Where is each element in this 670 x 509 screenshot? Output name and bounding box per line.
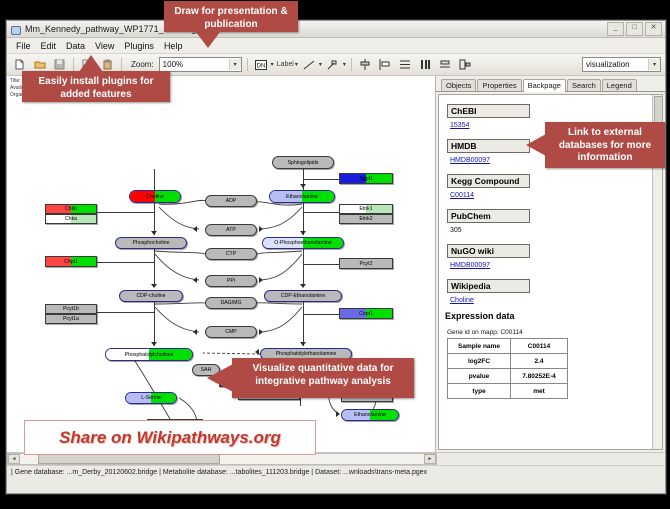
metabolite-node[interactable]: L-Serine (125, 392, 177, 404)
node-label: Pcyt1b (63, 306, 79, 312)
zoom-label: Zoom: (131, 60, 154, 69)
db-entry-wikipedia: Wikipedia Choline (447, 276, 662, 304)
table-row: Sample name C00114 (448, 339, 568, 354)
node-label: Cept1 (359, 311, 373, 317)
chevron-down-icon[interactable]: ▾ (343, 61, 346, 68)
node-label: Pcyt2 (360, 261, 373, 267)
tab-legend[interactable]: Legend (602, 79, 637, 91)
chevron-down-icon[interactable]: ▾ (229, 59, 241, 70)
connector (303, 264, 341, 265)
connector (97, 262, 155, 263)
distribute-icon[interactable] (397, 56, 414, 73)
connector (154, 169, 155, 191)
cell-key: type (448, 384, 511, 399)
status-text: | Gene database: ...m_Derby_20120602.bri… (7, 469, 427, 476)
node-label: L-Serine (141, 395, 161, 401)
callout-arrow-down (196, 32, 220, 48)
db-link-kegg[interactable]: C00114 (450, 192, 662, 199)
metabolite-node[interactable]: Ethanolamine (269, 190, 335, 203)
node-label: DAG/MG (220, 300, 241, 306)
arrow-icon (151, 284, 157, 288)
arrow-icon (336, 411, 340, 417)
menu-help[interactable]: Help (159, 39, 188, 53)
gene-node[interactable]: Pcyt2 (339, 258, 393, 269)
gene-node[interactable]: Chka (45, 214, 97, 224)
connector (97, 312, 155, 313)
metabolite-node[interactable]: PPi (205, 275, 257, 287)
zoom-combo[interactable]: 100% ▾ (159, 57, 242, 72)
metabolite-node[interactable]: ATP (205, 224, 257, 236)
menu-view[interactable]: View (90, 39, 119, 53)
db-header: Wikipedia (447, 279, 530, 293)
cell-value: met (511, 384, 568, 399)
title-bar: Mm_Kennedy_pathway_WP1771_45176.gpml _ □… (7, 21, 665, 38)
cell-key: Sample name (448, 339, 511, 354)
cell-value: 7.80252E-4 (511, 369, 568, 384)
callout-plugins: Easily install plugins for added feature… (22, 71, 170, 102)
node-label: Choline (146, 194, 164, 200)
node-label: PPi (227, 278, 235, 284)
chevron-down-icon[interactable]: ▾ (271, 61, 274, 68)
scroll-right-icon[interactable]: ► (424, 454, 436, 464)
menu-bar: File Edit Data View Plugins Help (7, 38, 665, 54)
expression-table: Sample name C00114 log2FC 2.4 pvalue 7.8… (447, 338, 568, 399)
menu-data[interactable]: Data (61, 39, 90, 53)
node-label: Etnk2 (359, 216, 372, 222)
node-label: ADP (226, 198, 237, 204)
connector (303, 314, 341, 315)
node-label: Chkb (65, 206, 77, 212)
node-label: Ethanolamine (354, 412, 386, 418)
metabolite-node[interactable]: Phosphatidylcholines (105, 348, 193, 361)
gene-node[interactable]: Chpt1 (45, 256, 97, 267)
db-link-nugo[interactable]: HMDB00097 (450, 262, 662, 269)
tab-properties[interactable]: Properties (477, 79, 521, 91)
metabolite-node[interactable]: CTP (205, 248, 257, 260)
arrow-icon (193, 329, 197, 335)
arrow-icon (151, 342, 157, 346)
arrow-icon (193, 277, 197, 283)
cell-value: C00114 (511, 339, 568, 354)
node-label: Phosphocholine (133, 240, 170, 246)
toolbar-separator (73, 58, 74, 71)
metabolite-node[interactable]: CDP-choline (119, 290, 183, 302)
arrow-icon (300, 284, 306, 288)
cell-value: 2.4 (511, 354, 568, 369)
callout-arrow-left (207, 364, 233, 392)
chevron-down-icon[interactable]: ▾ (319, 61, 322, 68)
tab-backpage[interactable]: Backpage (523, 79, 566, 92)
label-tool-text: Label (277, 61, 294, 68)
node-label: Phosphatidylcholines (125, 352, 174, 358)
node-label: Chka (65, 216, 77, 222)
arrow-icon (300, 231, 306, 235)
expression-data-title: Expression data (445, 311, 662, 321)
status-bar: | Gene database: ...m_Derby_20120602.bri… (7, 465, 665, 479)
db-header: HMDB (447, 139, 530, 153)
metabolite-node[interactable]: CDP-Ethanolamine (264, 290, 342, 302)
metabolite-node[interactable]: ADP (205, 195, 257, 207)
align-left-icon[interactable] (377, 56, 394, 73)
connector (154, 302, 155, 346)
node-label: CDP-choline (136, 293, 165, 299)
connector (303, 179, 341, 180)
gene-node[interactable]: Sgpl1 (339, 173, 393, 184)
db-entry-nugo: NuGO wiki HMDB00097 (447, 241, 662, 269)
group-icon[interactable] (457, 56, 474, 73)
receptor-icon[interactable] (325, 56, 342, 73)
gene-node[interactable]: Etnk1 (339, 204, 393, 214)
db-entry-pubchem: PubChem 305 (447, 206, 662, 234)
line-tool[interactable]: ▾ (301, 56, 322, 73)
chevron-down-icon[interactable]: ▾ (295, 61, 298, 68)
node-label: O-Phosphoethanolamine (274, 240, 331, 246)
node-label: Sgpl1 (359, 176, 372, 182)
line-icon[interactable] (301, 56, 318, 73)
close-button[interactable]: ✕ (645, 22, 662, 36)
arrow-icon (259, 329, 263, 335)
connector (154, 249, 155, 287)
gene-node[interactable]: Cept1 (339, 308, 393, 319)
node-label: ATP (226, 227, 236, 233)
db-header: ChEBI (447, 104, 530, 118)
datanode-tool[interactable]: DN ▾ (253, 56, 274, 73)
table-row: pvalue 7.80252E-4 (448, 369, 568, 384)
arrow-icon (300, 184, 306, 188)
node-label: Sphingolipids (288, 160, 319, 166)
metabolite-node[interactable]: CMP (205, 326, 257, 338)
menu-edit[interactable]: Edit (36, 39, 62, 53)
metabolite-node[interactable]: Phosphocholine (115, 237, 187, 249)
gene-node[interactable]: Etnk2 (339, 214, 393, 224)
node-label: CTP (226, 251, 236, 257)
menu-plugins[interactable]: Plugins (119, 39, 159, 53)
node-label: CMP (225, 329, 237, 335)
connector (303, 302, 304, 346)
svg-text:DN: DN (257, 63, 266, 69)
connector (97, 212, 155, 213)
tab-search[interactable]: Search (567, 79, 601, 91)
metabolite-node[interactable]: DAG/MG (205, 297, 257, 309)
node-label: Etnk1 (359, 206, 372, 212)
toolbar-separator (351, 58, 352, 71)
db-value-pubchem: 305 (450, 227, 662, 234)
window-controls: _ □ ✕ (607, 22, 662, 36)
gene-id-line: Gene id on mapp: C00114 (447, 329, 662, 336)
callout-visualize: Visualize quantitative data for integrat… (232, 358, 414, 398)
menu-file[interactable]: File (11, 39, 36, 53)
node-label: Ethanolamine (286, 194, 318, 200)
arrow-icon (151, 231, 157, 235)
db-header: Kegg Compound (447, 174, 530, 188)
arrow-icon (259, 226, 263, 232)
arrow-icon (259, 277, 263, 283)
db-header: PubChem (447, 209, 530, 223)
gene-node[interactable]: Pcyt1b (45, 304, 97, 314)
app-icon (10, 24, 21, 35)
canvas-hscrollbar-thumb[interactable] (38, 454, 220, 464)
db-header: NuGO wiki (447, 244, 530, 258)
tab-objects[interactable]: Objects (441, 79, 476, 91)
node-label: CDP-Ethanolamine (281, 293, 325, 299)
metabolite-node[interactable]: O-Phosphoethanolamine (262, 237, 344, 249)
metabolite-node[interactable]: Ethanolamine (341, 409, 399, 421)
arrow-icon (255, 349, 259, 355)
db-link-wikipedia[interactable]: Choline (450, 297, 662, 304)
callout-arrow-up (79, 55, 103, 72)
same-width-icon[interactable] (417, 56, 434, 73)
callout-draw: Draw for presentation & publication (164, 1, 298, 32)
toolbar-separator (121, 58, 122, 71)
side-panel-tabs: Objects Properties Backpage Search Legen… (436, 76, 665, 92)
stack-icon[interactable] (437, 56, 454, 73)
node-label: Phosphatidylethanolamine (276, 351, 337, 357)
connector (303, 212, 341, 213)
chevron-down-icon[interactable]: ▾ (648, 59, 660, 70)
node-label: Chpt1 (64, 259, 78, 265)
scroll-left-icon[interactable]: ◄ (8, 454, 20, 464)
minimize-button[interactable]: _ (607, 22, 624, 36)
label-tool[interactable]: Label ▾ (277, 61, 298, 68)
visualization-value: visualization (586, 60, 630, 69)
cell-key: log2FC (448, 354, 511, 369)
receptor-tool[interactable]: ▾ (325, 56, 346, 73)
callout-link: Link to external databases for more info… (545, 122, 665, 168)
align-center-icon[interactable] (357, 56, 374, 73)
node-label: Pcyt1a (63, 316, 79, 322)
arrow-icon (300, 342, 306, 346)
visualization-combo[interactable]: visualization ▾ (582, 57, 661, 72)
callout-arrow-left (526, 134, 546, 156)
zoom-value: 100% (163, 60, 183, 69)
maximize-button[interactable]: □ (626, 22, 643, 36)
table-row: log2FC 2.4 (448, 354, 568, 369)
cell-key: pvalue (448, 369, 511, 384)
arrow-icon (193, 226, 197, 232)
gene-node[interactable]: Chkb (45, 204, 97, 214)
metabolite-node[interactable]: Sphingolipids (272, 156, 334, 169)
connector (303, 249, 304, 287)
gene-node[interactable]: Pcyt1a (45, 314, 97, 324)
toolbar-separator (247, 58, 248, 71)
datanode-icon[interactable]: DN (253, 56, 270, 73)
table-row: type met (448, 384, 568, 399)
db-entry-kegg: Kegg Compound C00114 (447, 171, 662, 199)
metabolite-node[interactable]: Choline (129, 190, 181, 203)
callout-share: Share on Wikipathways.org (24, 420, 316, 455)
